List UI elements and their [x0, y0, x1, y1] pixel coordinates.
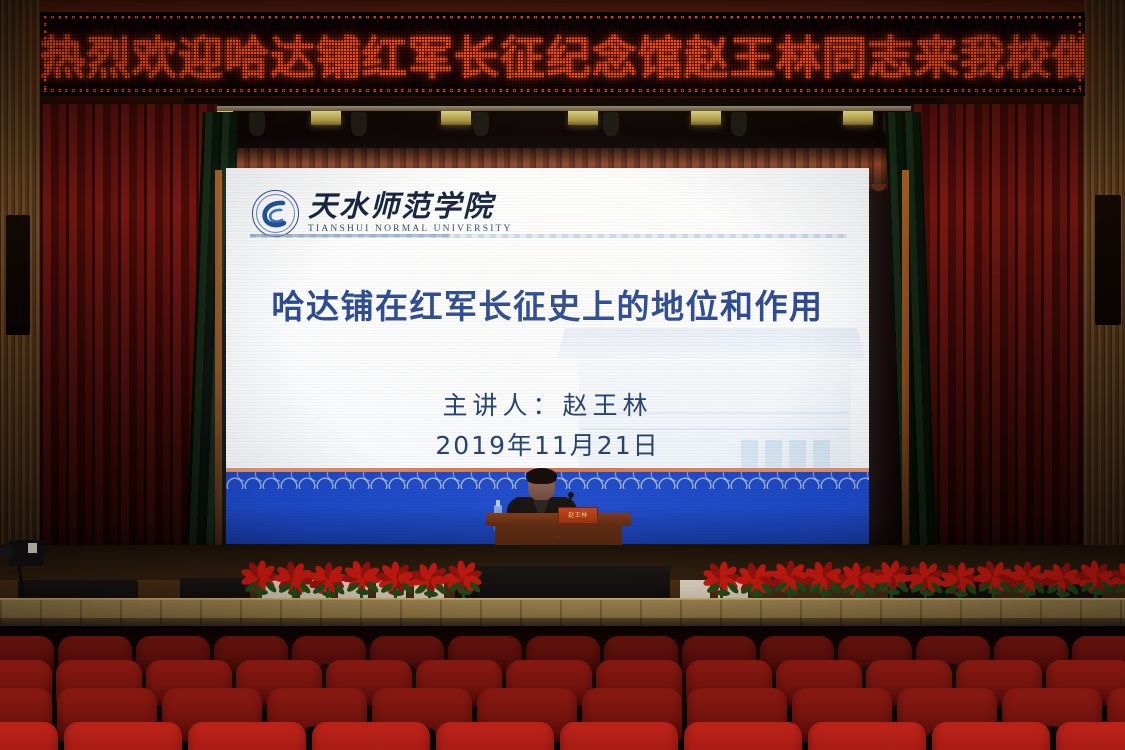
auditorium-photo: 热烈欢迎哈达铺红军长征纪念馆赵王林同志来我校做专题报告: [0, 0, 1125, 750]
audience-area: [0, 626, 1125, 750]
speaker-hair: [526, 468, 557, 484]
video-camera: [2, 532, 46, 574]
flower-leaf: [954, 590, 968, 597]
slide-speaker: 主讲人：赵王林: [226, 386, 869, 422]
auditorium-seat: [312, 722, 430, 750]
flower-leaf: [716, 589, 730, 596]
stage-edge-glow-left: [215, 170, 222, 560]
stage-light-fixture: [603, 112, 619, 136]
led-banner-frame: [44, 16, 1081, 92]
stage-lamp-icon: [568, 111, 598, 125]
auditorium-seat: [436, 722, 554, 750]
red-curtain-right: [911, 104, 1083, 574]
flower-leaf: [458, 588, 472, 595]
flower-leaf: [1022, 589, 1036, 596]
stage-lamp-icon: [691, 111, 721, 125]
flower-leaf: [424, 590, 438, 597]
poinsettia-bloom: [1108, 561, 1125, 595]
curtain-shading: [911, 104, 1083, 574]
camera-label-tag: [28, 543, 37, 553]
university-emblem-icon: 1959: [252, 190, 299, 237]
stage-light-fixture: [351, 112, 367, 136]
flower-leaf: [288, 589, 302, 596]
speaker-nameplate-text: 赵王林: [559, 508, 597, 523]
emblem-wave-glyph: 1959: [253, 191, 298, 236]
flower-leaf: [784, 588, 798, 595]
stage-lamp-icon: [843, 111, 873, 125]
flower-leaf: [886, 588, 900, 595]
slide-date: 2019年11月21日: [226, 426, 869, 462]
flower-leaf: [920, 589, 934, 596]
microphone-head-right: [568, 492, 574, 498]
stage-lamp-icon: [441, 111, 471, 125]
lighting-truss-bar: [183, 106, 943, 111]
auditorium-seat: [1056, 722, 1125, 750]
flower-leaf: [988, 588, 1002, 595]
flower-leaf: [852, 590, 866, 597]
watermark-roof: [557, 328, 866, 359]
flower-leaf: [322, 590, 336, 597]
auditorium-seat: [64, 722, 182, 750]
wall-panel-left: [6, 215, 30, 335]
auditorium-seat: [808, 722, 926, 750]
stage-light-fixture: [249, 112, 265, 136]
slide-title: 哈达铺在红军长征史上的地位和作用: [226, 280, 869, 328]
university-name-cn: 天水师范学院: [308, 192, 513, 221]
university-name-block: 天水师范学院 TIANSHUI NORMAL UNIVERSITY: [308, 192, 513, 235]
flower-leaf: [1056, 590, 1070, 597]
flower-leaf: [1090, 588, 1104, 595]
auditorium-seat: [684, 722, 802, 750]
flower-leaf: [750, 590, 764, 597]
flower-petal: [906, 574, 923, 582]
flower-leaf: [818, 589, 832, 596]
seat-rows: [0, 626, 1125, 750]
stage-lamp-icon: [311, 111, 341, 125]
auditorium-seat: [560, 722, 678, 750]
camera-body: [8, 540, 44, 566]
wall-panel-right: [1095, 195, 1121, 325]
stage-light-fixture: [473, 112, 489, 136]
auditorium-seat: [188, 722, 306, 750]
camera-lens-icon: [0, 546, 12, 558]
university-logo: 1959 天水师范学院 TIANSHUI NORMAL UNIVERSITY: [252, 190, 513, 237]
stage-edge-glow-right: [902, 170, 909, 560]
speaker-nameplate: 赵王林: [558, 507, 598, 524]
led-welcome-banner: 热烈欢迎哈达铺红军长征纪念馆赵王林同志来我校做专题报告: [40, 12, 1085, 96]
svg-text:1959: 1959: [270, 221, 281, 226]
auditorium-seat: [932, 722, 1050, 750]
slide-header-rule-accent: [250, 234, 450, 237]
flower-leaf: [356, 588, 370, 595]
flower-leaf: [390, 589, 404, 596]
flower-leaf: [254, 588, 268, 595]
stage-light-fixture: [731, 112, 747, 136]
microphone-head-left: [515, 497, 521, 503]
auditorium-seat: [0, 722, 58, 750]
